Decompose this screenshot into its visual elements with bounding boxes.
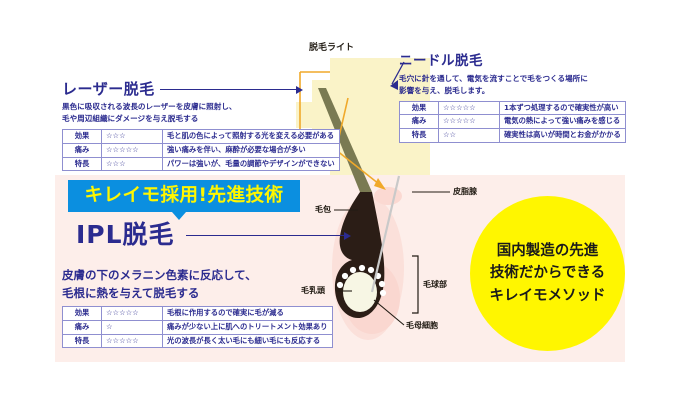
needle-row-2-value: 確実性は高いが時間とお金がかかる	[500, 129, 626, 143]
callout-line-2: 技術だからできる	[490, 262, 605, 284]
ipl-banner: キレイモ採用!先進技術	[68, 180, 300, 212]
ipl-spec-table: 効果 ☆☆☆☆☆ 毛根に作用するので確実に毛が減る 痛み ☆ 痛みが少ない上に肌…	[62, 306, 333, 348]
hair-removal-light-label: 脱毛ライト	[309, 40, 354, 53]
table-row: 効果 ☆☆☆ 毛と肌の色によって照射する光を変える必要がある	[63, 130, 340, 144]
needle-row-0-value: 1本ずつ処理するので確実性が高い	[500, 101, 626, 115]
laser-row-1-value: 強い痛みを伴い、麻酔が必要な場合が多い	[163, 143, 340, 157]
method-ipl: 効果 ☆☆☆☆☆ 毛根に作用するので確実に毛が減る 痛み ☆ 痛みが少ない上に肌…	[62, 306, 333, 348]
ipl-row-2-key: 特長	[63, 334, 102, 348]
ipl-banner-label: キレイモ採用!先進技術	[68, 180, 300, 212]
label-hair-bulb: 毛球部	[423, 279, 447, 290]
ipl-arrow-head	[344, 232, 351, 240]
label-dermal-papilla: 毛乳頭	[301, 285, 325, 296]
needle-title: ニードル脱毛	[399, 55, 626, 69]
method-needle: ニードル脱毛 毛穴に針を通して、電気を流すことで毛をつくる場所に 影響を与え、脱…	[399, 55, 626, 143]
laser-row-1-stars: ☆☆☆☆☆	[102, 143, 163, 157]
table-row: 特長 ☆☆☆ パワーは強いが、毛量の調節やデザインができない	[63, 157, 340, 171]
callout-line-3: キレイモメソッド	[490, 285, 606, 307]
laser-row-0-key: 効果	[63, 130, 102, 144]
infographic-canvas: 国内製造の先進 技術だからできる キレイモメソッド 脱毛ライト レーザー脱毛 黒…	[0, 0, 680, 401]
ipl-desc-line-1: 皮膚の下のメラニン色素に反応して、	[62, 267, 257, 285]
label-matrix-cell: 毛母細胞	[406, 320, 438, 331]
ipl-arrow-line	[186, 235, 344, 236]
needle-row-0-key: 効果	[400, 101, 439, 115]
ipl-row-1-value: 痛みが少ない上に肌へのトリートメント効果あり	[163, 320, 333, 334]
laser-arrow-head	[296, 86, 303, 94]
table-row: 痛み ☆ 痛みが少ない上に肌へのトリートメント効果あり	[63, 320, 333, 334]
ipl-row-1-stars: ☆	[102, 320, 163, 334]
ipl-row-0-key: 効果	[63, 307, 102, 321]
needle-row-1-key: 痛み	[400, 115, 439, 129]
needle-spec-table: 効果 ☆☆☆☆☆ 1本ずつ処理するので確実性が高い 痛み ☆☆☆☆☆ 電気の熱に…	[399, 101, 626, 143]
needle-row-1-stars: ☆☆☆☆☆	[439, 115, 500, 129]
callout-text: 国内製造の先進 技術だからできる キレイモメソッド	[470, 196, 625, 351]
ipl-desc-line-2: 毛根に熱を与えて脱毛する	[62, 285, 199, 303]
ipl-row-1-key: 痛み	[63, 320, 102, 334]
ipl-title: IPL脱毛	[76, 222, 175, 247]
callout-line-1: 国内製造の先進	[497, 240, 599, 262]
label-hair-follicle: 毛包	[315, 204, 331, 215]
laser-arrow-line	[160, 89, 296, 90]
method-laser: レーザー脱毛 黒色に吸収される波長のレーザーを皮膚に照射し、 毛や周辺組織にダメ…	[62, 82, 340, 171]
ipl-row-0-stars: ☆☆☆☆☆	[102, 307, 163, 321]
needle-row-0-stars: ☆☆☆☆☆	[439, 101, 500, 115]
table-row: 特長 ☆☆☆☆☆ 光の波長が長く太い毛にも細い毛にも反応する	[63, 334, 333, 348]
ipl-row-2-stars: ☆☆☆☆☆	[102, 334, 163, 348]
ipl-banner-pointer	[172, 212, 186, 220]
table-row: 痛み ☆☆☆☆☆ 電気の熱によって強い痛みを感じる	[400, 115, 626, 129]
table-row: 効果 ☆☆☆☆☆ 1本ずつ処理するので確実性が高い	[400, 101, 626, 115]
ipl-row-0-value: 毛根に作用するので確実に毛が減る	[163, 307, 333, 321]
needle-desc-line-2: 影響を与え、脱毛します。	[399, 85, 626, 96]
needle-desc-line-1: 毛穴に針を通して、電気を流すことで毛をつくる場所に	[399, 73, 626, 84]
laser-desc-line-2: 毛や周辺組織にダメージを与え脱毛する	[62, 113, 340, 124]
laser-row-2-value: パワーは強いが、毛量の調節やデザインができない	[163, 157, 340, 171]
table-row: 特長 ☆☆ 確実性は高いが時間とお金がかかる	[400, 129, 626, 143]
laser-row-0-value: 毛と肌の色によって照射する光を変える必要がある	[163, 130, 340, 144]
label-sebaceous-gland: 皮脂腺	[453, 186, 477, 197]
table-row: 効果 ☆☆☆☆☆ 毛根に作用するので確実に毛が減る	[63, 307, 333, 321]
ipl-row-2-value: 光の波長が長く太い毛にも細い毛にも反応する	[163, 334, 333, 348]
needle-row-2-stars: ☆☆	[439, 129, 500, 143]
laser-row-0-stars: ☆☆☆	[102, 130, 163, 144]
laser-spec-table: 効果 ☆☆☆ 毛と肌の色によって照射する光を変える必要がある 痛み ☆☆☆☆☆ …	[62, 129, 340, 171]
laser-row-1-key: 痛み	[63, 143, 102, 157]
table-row: 痛み ☆☆☆☆☆ 強い痛みを伴い、麻酔が必要な場合が多い	[63, 143, 340, 157]
laser-row-2-key: 特長	[63, 157, 102, 171]
laser-row-2-stars: ☆☆☆	[102, 157, 163, 171]
needle-row-2-key: 特長	[400, 129, 439, 143]
needle-row-1-value: 電気の熱によって強い痛みを感じる	[500, 115, 626, 129]
laser-desc-line-1: 黒色に吸収される波長のレーザーを皮膚に照射し、	[62, 101, 340, 112]
